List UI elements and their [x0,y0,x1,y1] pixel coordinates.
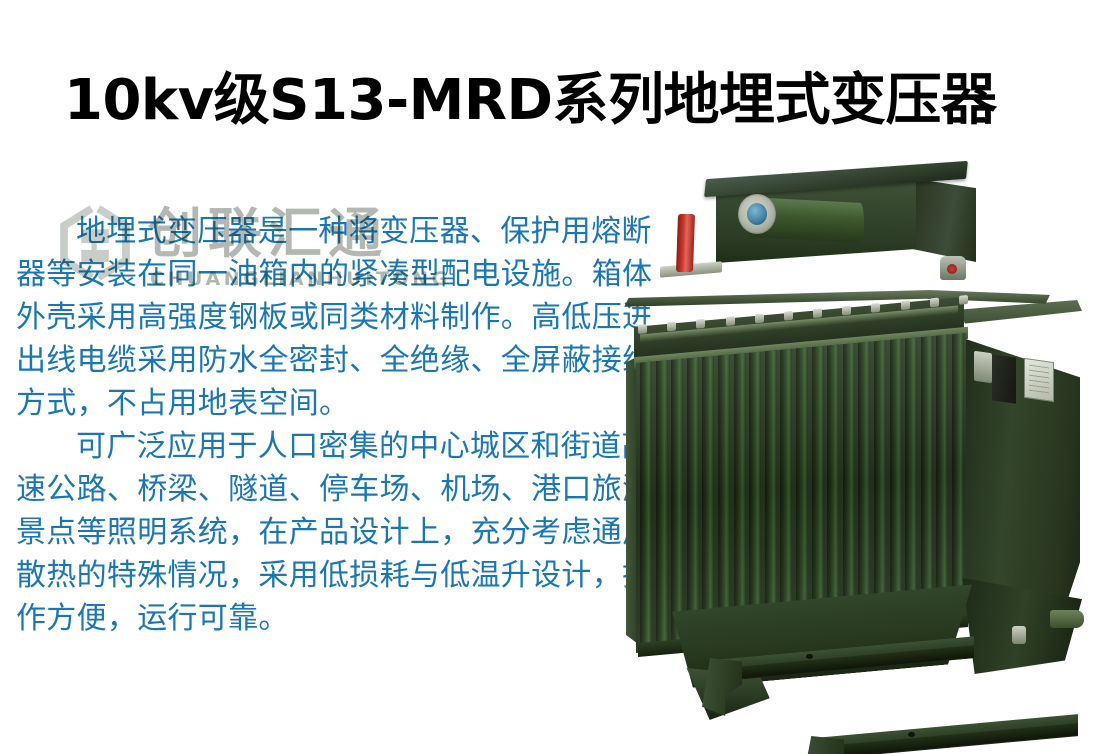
radiator-fin [921,336,933,627]
radiator-fin [952,333,964,624]
product-photo-transformer [620,160,1100,740]
rating-nameplate [1024,358,1054,402]
radiator-fin [827,345,839,636]
description-body: 地埋式变压器是一种将变压器、保护用熔断器等安装在同一油箱内的紧凑型配电设施。箱体… [16,210,668,640]
radiator-fin [936,335,948,626]
radiator-fin [843,343,855,634]
radiator-fin [749,352,761,643]
poster-canvas: 10kv级S13-MRD系列地埋式变压器 地埋式变压器是一种将变压器、保护用熔断… [0,0,1100,754]
radiator-fin [765,350,777,641]
radiator-fin [780,349,792,640]
panel-latch [974,351,992,384]
radiator-fin [890,339,902,630]
radiator-fin [734,353,746,644]
transformer-lid-side [910,178,976,262]
base-rail-bolt [806,654,813,659]
cable-entry-bore [747,203,767,225]
pressure-relief-valve [940,256,966,280]
radiator-fin [874,340,886,631]
radiator-fin [640,362,652,653]
terminal-box [992,354,1016,403]
oil-drain-valve [1050,610,1084,628]
grounding-lug [1012,626,1026,644]
radiator-fin [905,337,917,628]
description-paragraph-2: 可广泛应用于人口密集的中心城区和街道高速公路、桥梁、隧道、停车场、机场、港口旅游… [16,425,668,640]
radiator-fin [687,357,699,648]
hv-bushing-red [676,214,695,272]
radiator-fin [702,356,714,647]
radiator-fin [656,360,668,651]
tank-side-top-plate [960,300,1082,332]
page-title: 10kv级S13-MRD系列地埋式变压器 [64,64,964,138]
description-paragraph-1: 地埋式变压器是一种将变压器、保护用熔断器等安装在同一油箱内的紧凑型配电设施。箱体… [16,210,668,425]
base-rail-bolt [908,732,915,737]
radiator-fin [671,359,683,650]
radiator-fin [796,347,808,638]
radiator-fin [718,354,730,645]
radiator-fin [858,342,870,633]
radiator-fin [812,346,824,637]
